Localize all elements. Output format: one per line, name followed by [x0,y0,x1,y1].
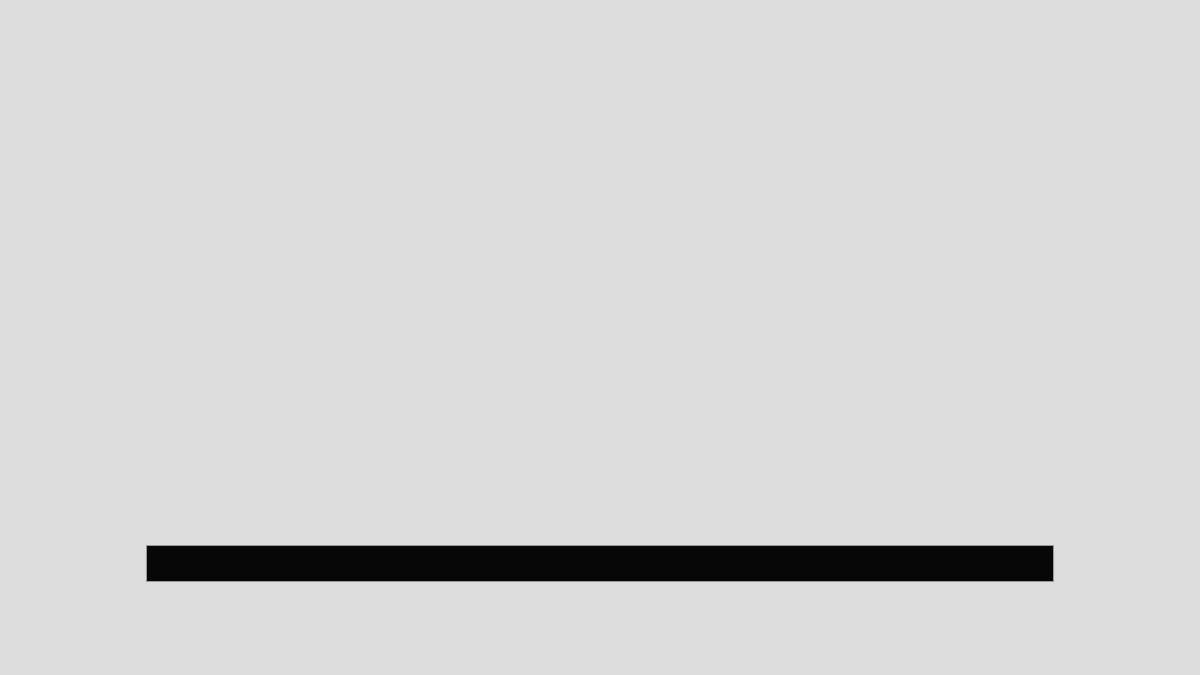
chart-canvas [0,0,1200,675]
bar-plot-area [147,120,1053,546]
chart-heading [0,104,1200,112]
category-axis-strip [147,546,1053,581]
